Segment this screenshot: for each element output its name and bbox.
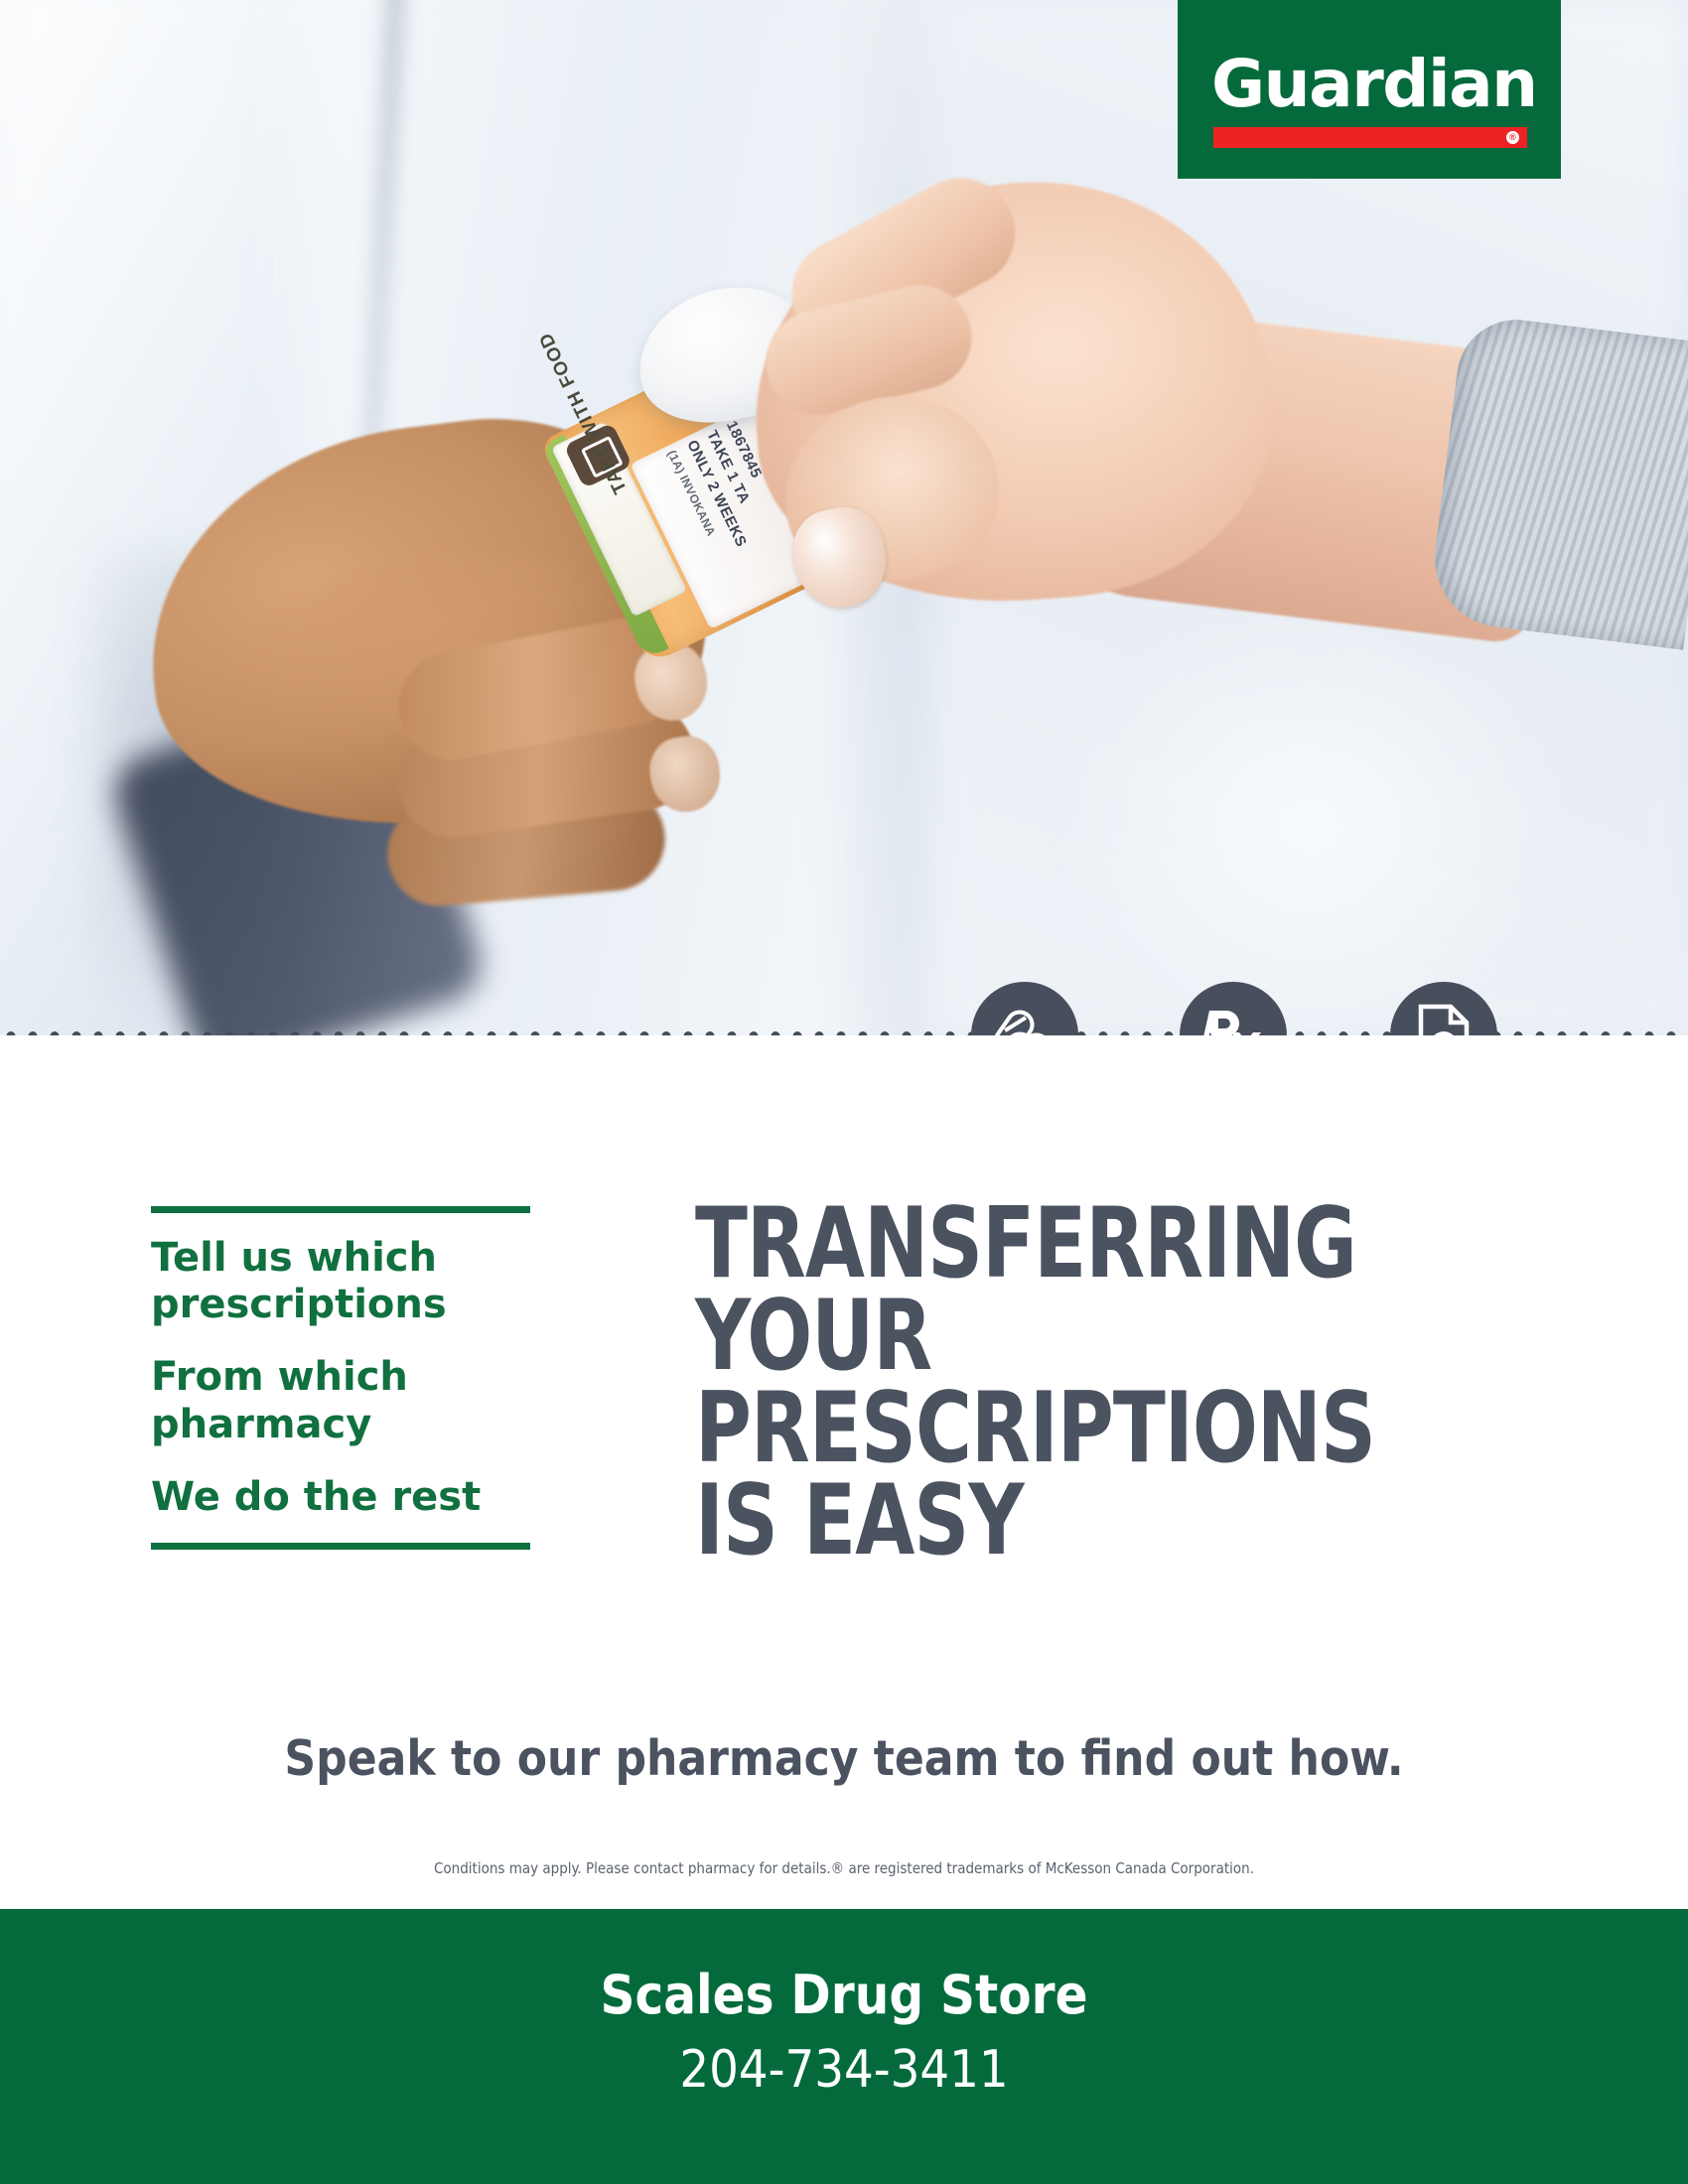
step-item-2: From which pharmacy: [151, 1354, 530, 1447]
main-content: Tell us which prescriptions From which p…: [0, 1035, 1688, 1909]
step-item-1: Tell us which prescriptions: [151, 1235, 530, 1328]
customer-knit-sleeve: [1427, 313, 1688, 649]
registered-trademark-icon: ®: [1506, 131, 1519, 144]
store-name: Scales Drug Store: [0, 1909, 1688, 2026]
step-item-3: We do the rest: [151, 1474, 530, 1521]
guardian-wordmark: Guardian: [1211, 46, 1537, 122]
guardian-logo: Guardian ®: [1178, 0, 1561, 179]
guardian-red-bar: ®: [1213, 127, 1527, 148]
call-to-action-text: Speak to our pharmacy team to find out h…: [0, 1730, 1688, 1787]
store-footer: Scales Drug Store 204-734-3411: [0, 1909, 1688, 2184]
steps-rule-top: [151, 1206, 530, 1213]
page-title: TRANSFERRING YOUR PRESCRIPTIONS IS EASY: [695, 1198, 1447, 1568]
background-highlight: [1053, 596, 1569, 1035]
store-phone[interactable]: 204-734-3411: [0, 2026, 1688, 2100]
steps-rule-bottom: [151, 1543, 530, 1550]
steps-list: Tell us which prescriptions From which p…: [151, 1206, 530, 1550]
legal-fineprint: Conditions may apply. Please contact pha…: [0, 1859, 1688, 1877]
